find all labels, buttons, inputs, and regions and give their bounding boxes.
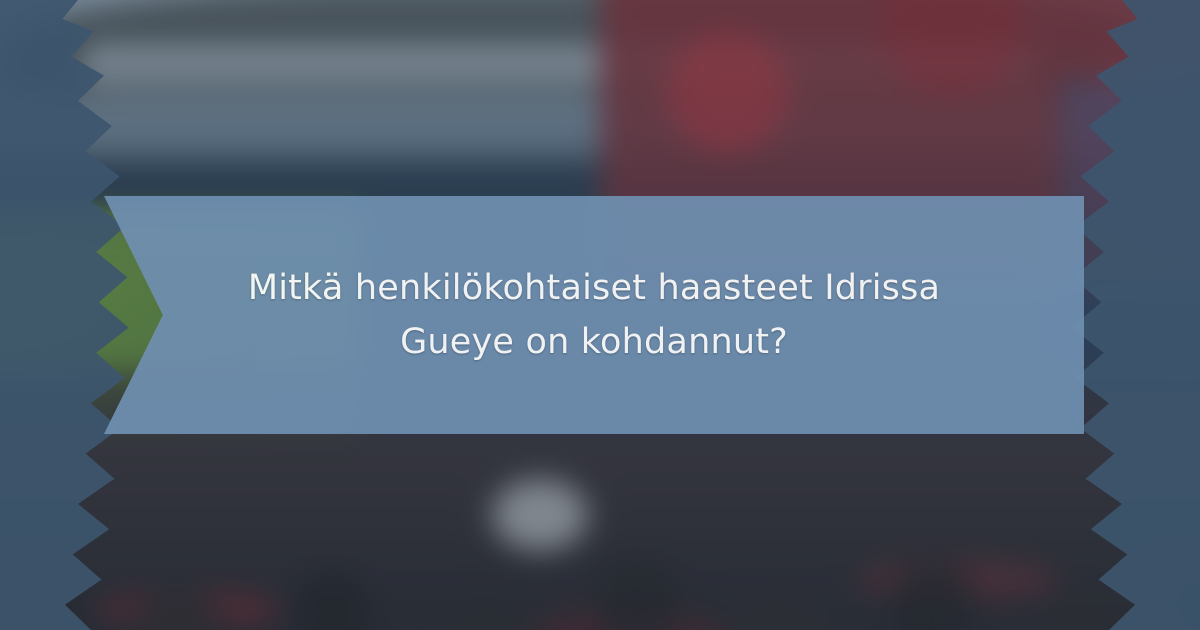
question-title: Mitkä henkilökohtaiset haasteet Idrissa … [214,261,974,370]
question-banner: Mitkä henkilökohtaiset haasteet Idrissa … [104,196,1084,434]
question-banner-inner: Mitkä henkilökohtaiset haasteet Idrissa … [214,261,974,370]
share-card: Mitkä henkilökohtaiset haasteet Idrissa … [0,0,1200,630]
